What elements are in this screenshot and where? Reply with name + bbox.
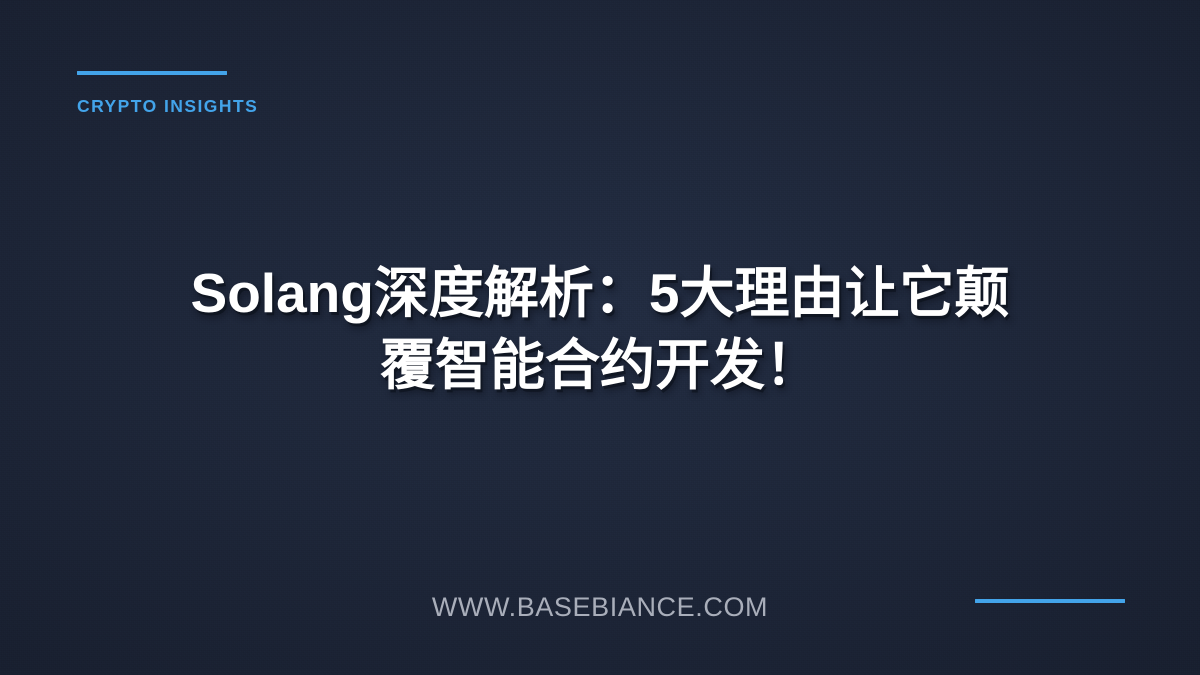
accent-bar-bottom	[975, 599, 1125, 603]
page-title-line-1: Solang深度解析：5大理由让它颠	[60, 258, 1140, 330]
kicker-block: CRYPTO INSIGHTS	[77, 71, 258, 116]
page-title-line-2: 覆智能合约开发！	[60, 330, 1140, 402]
accent-bar-top	[77, 71, 227, 75]
page-title: Solang深度解析：5大理由让它颠 覆智能合约开发！	[0, 258, 1200, 401]
promo-slide: CRYPTO INSIGHTS Solang深度解析：5大理由让它颠 覆智能合约…	[0, 0, 1200, 675]
kicker-label: CRYPTO INSIGHTS	[77, 97, 258, 116]
footer-website-url: WWW.BASEBIANCE.COM	[0, 592, 1200, 623]
